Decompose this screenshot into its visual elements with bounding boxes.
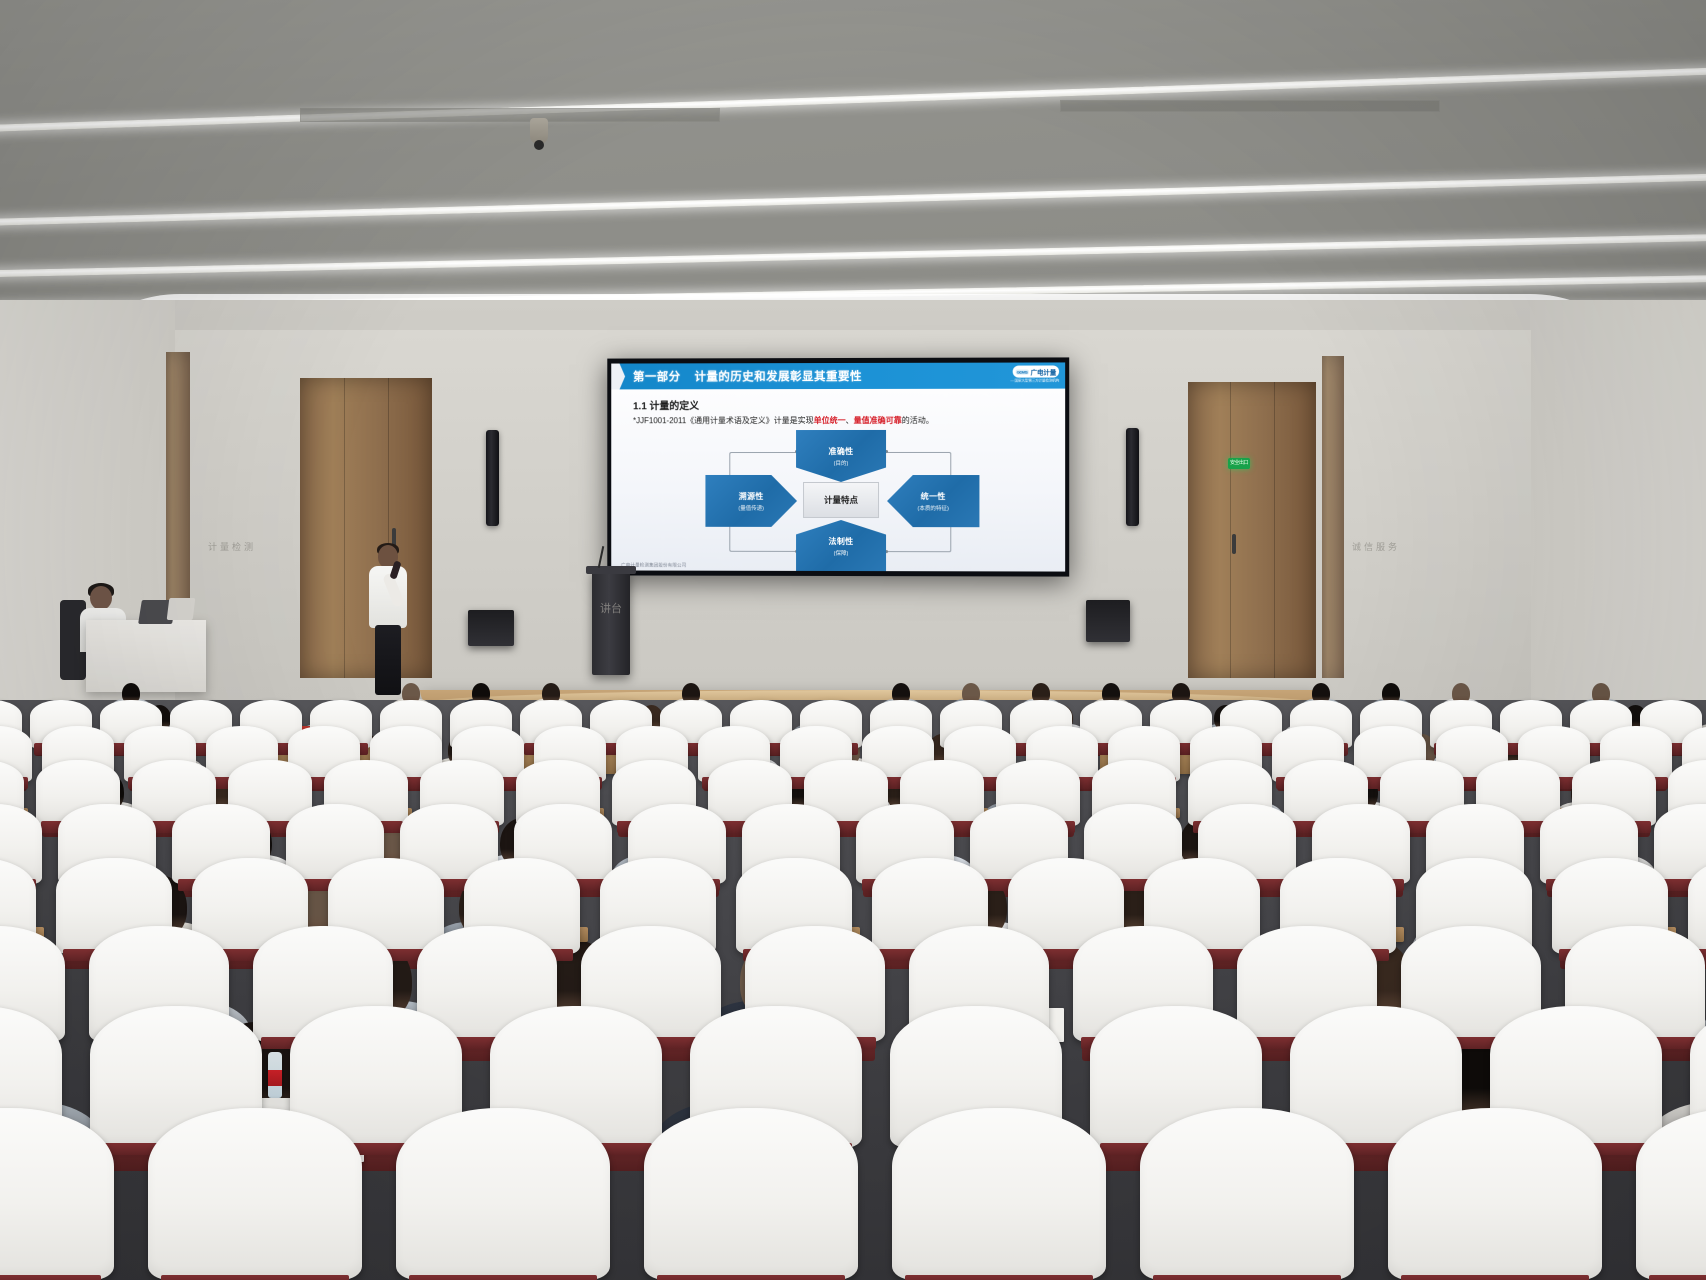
exit-sign: 安全出口	[1228, 458, 1250, 469]
wall-plaque-right: 诚信服务	[1352, 540, 1400, 553]
auditorium-seat	[1388, 1108, 1602, 1280]
presenter	[366, 545, 410, 700]
floor-speaker-left	[468, 610, 514, 646]
ceiling-led-strip	[0, 67, 1706, 132]
wall-speaker-left	[486, 430, 499, 526]
slide-body: 1.1 计量的定义 *JJF1001-2011《通用计量术语及定义》计量是实现单…	[611, 389, 1065, 572]
control-desk	[86, 620, 206, 692]
logo-name: 广电计量	[1031, 366, 1056, 376]
auditorium-seat	[1140, 1108, 1354, 1280]
auditorium-seat	[148, 1108, 362, 1280]
definition-highlight-1: 单位统一	[814, 416, 846, 425]
water-bottle	[268, 1052, 282, 1098]
auditorium-seat	[0, 1108, 114, 1280]
definition-prefix: *JJF1001-2011《通用计量术语及定义》计量是实现	[633, 416, 814, 425]
node-title: 准确性	[829, 445, 854, 456]
slide-section-title: 计量的历史和发展彰显其重要性	[695, 368, 863, 384]
auditorium-seat	[396, 1108, 610, 1280]
company-logo: GDMS 广电计量 — 国家大型第三方计量检测机构	[1010, 365, 1059, 383]
slide-section-number: 第一部分	[633, 368, 681, 384]
wall-plaque-left: 计量检测	[208, 540, 256, 553]
definition-suffix: 的活动。	[902, 416, 934, 425]
node-title: 法制性	[829, 535, 854, 546]
node-title: 统一性	[921, 491, 946, 502]
slide-header-bar: 第一部分 计量的历史和发展彰显其重要性 GDMS 广电计量 — 国家大型第三方计…	[611, 362, 1065, 389]
auditorium-seat	[644, 1108, 858, 1280]
logo-subline: — 国家大型第三方计量检测机构	[1010, 379, 1059, 384]
led-presentation-screen: 第一部分 计量的历史和发展彰显其重要性 GDMS 广电计量 — 国家大型第三方计…	[607, 357, 1069, 576]
presenter-trousers	[375, 625, 401, 695]
node-subtitle: (本质的特征)	[918, 504, 949, 512]
logo-mark: GDMS	[1016, 369, 1029, 374]
operator-head	[90, 586, 112, 610]
definition-highlight-2: 量值准确可靠	[854, 416, 902, 425]
slide-surface: 第一部分 计量的历史和发展彰显其重要性 GDMS 广电计量 — 国家大型第三方计…	[611, 362, 1065, 571]
wall-speaker-right	[1126, 428, 1139, 526]
slide-definition: *JJF1001-2011《通用计量术语及定义》计量是实现单位统一、量值准确可靠…	[633, 415, 1051, 426]
slide-heading: 1.1 计量的定义	[633, 397, 1051, 413]
right-wall	[1530, 300, 1706, 730]
floor-speaker-right	[1086, 600, 1130, 642]
side-wall-wood-panel-right	[1322, 356, 1344, 678]
diagram-node-left: 溯源性 (量值传递)	[705, 475, 797, 527]
definition-separator: 、	[846, 416, 854, 425]
podium-emblem: 讲台	[598, 600, 624, 626]
diagram-node-top: 准确性 (目的)	[796, 430, 886, 482]
stage-door-right	[1188, 382, 1316, 678]
auditorium-seat	[892, 1108, 1106, 1280]
ceiling-vent	[300, 108, 720, 122]
node-subtitle: (目的)	[834, 458, 849, 466]
metrology-characteristics-diagram: 准确性 (目的) 溯源性 (量值传递) 统一性 (本质的特征) 法制性 (保障)	[692, 430, 992, 571]
ceiling-led-strip	[0, 234, 1706, 278]
ceiling-vent	[1060, 100, 1440, 112]
node-subtitle: (保障)	[834, 548, 849, 556]
diagram-node-right: 统一性 (本质的特征)	[887, 475, 979, 527]
diagram-center-label: 计量特点	[803, 482, 879, 518]
ceiling	[0, 0, 1706, 340]
laptop-secondary	[167, 598, 196, 620]
diagram-node-bottom: 法制性 (保障)	[796, 520, 886, 572]
ceiling-led-strip	[0, 173, 1706, 226]
auditorium-photo: 安全出口 计量检测 诚信服务 第一部分 计量的历史和发展彰显其重要性 GDMS …	[0, 0, 1706, 1280]
node-subtitle: (量值传递)	[738, 503, 764, 511]
node-title: 溯源性	[739, 490, 764, 501]
podium-top	[586, 566, 636, 574]
security-camera-icon	[530, 118, 548, 144]
